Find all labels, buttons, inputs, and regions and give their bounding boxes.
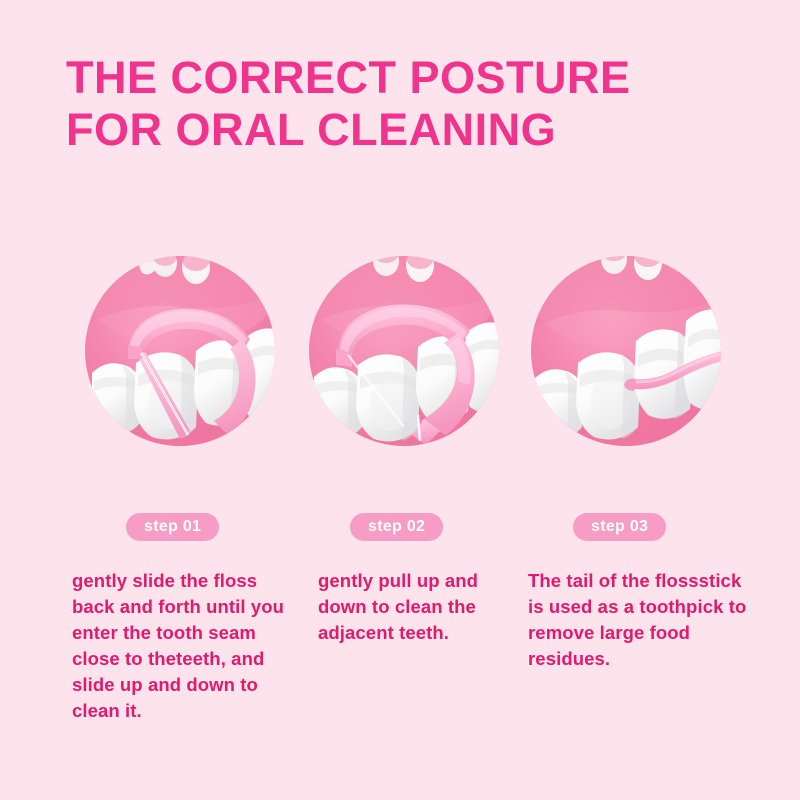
step-2-description: gently pull up and down to clean the adj…	[318, 568, 523, 646]
step-3-badge: step 03	[573, 513, 666, 541]
step-1-description: gently slide the floss back and forth un…	[72, 568, 300, 724]
page-title: THE CORRECT POSTURE FOR ORAL CLEANING	[66, 52, 766, 156]
page-title-line-2: FOR ORAL CLEANING	[66, 104, 766, 156]
poster-root: { "page": { "background_color": "#fde4ec…	[0, 0, 800, 800]
step-3-description: The tail of the flossstick is used as a …	[528, 568, 768, 672]
step-2-illustration	[308, 255, 500, 447]
mouth-floss-pick-insert-icon	[84, 255, 276, 447]
step-1-badge: step 01	[126, 513, 219, 541]
step-3-illustration	[530, 255, 722, 447]
mouth-toothpick-tail-icon	[530, 255, 722, 447]
step-1-illustration	[84, 255, 276, 447]
page-title-line-1: THE CORRECT POSTURE	[66, 52, 766, 104]
step-2-badge: step 02	[350, 513, 443, 541]
mouth-floss-pick-updown-icon	[308, 255, 500, 447]
